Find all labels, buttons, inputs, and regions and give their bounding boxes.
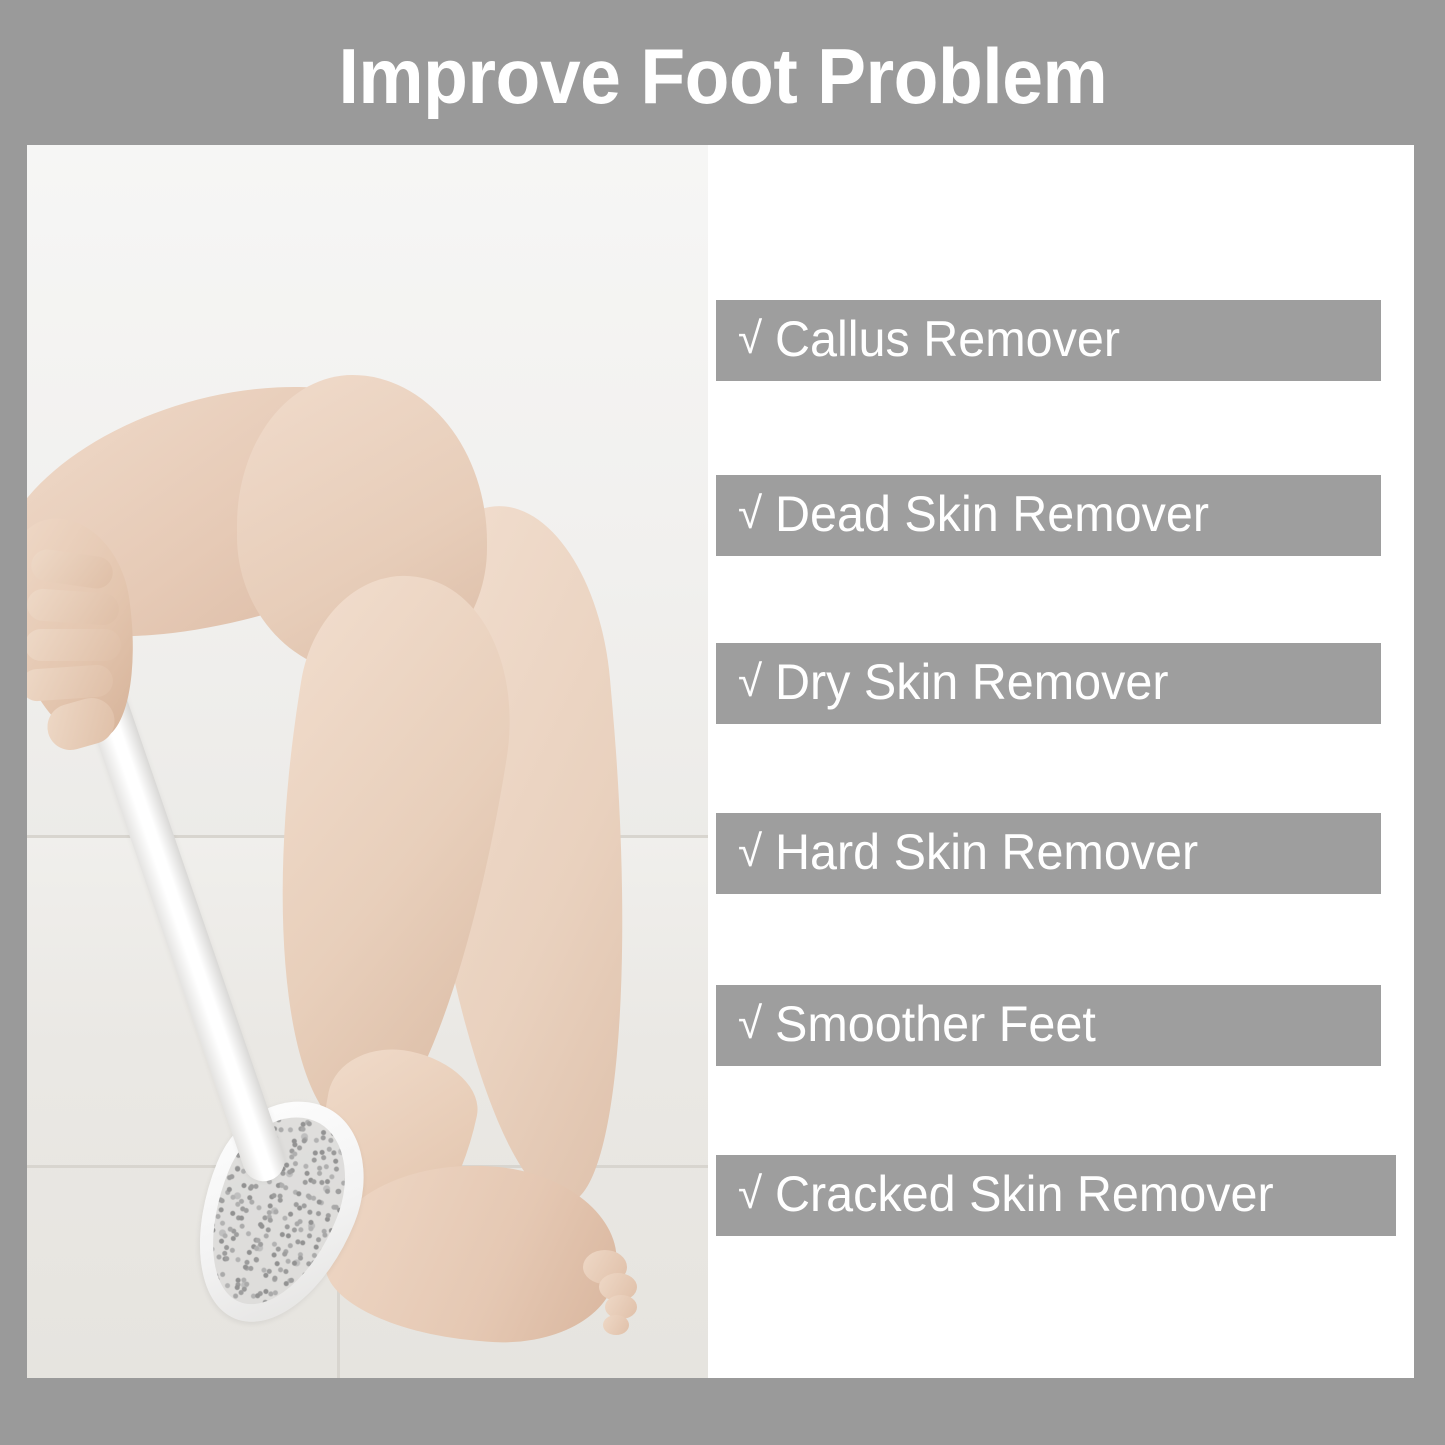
title-bar: Improve Foot Problem <box>0 0 1445 145</box>
feature-list: √ Callus Remover √ Dead Skin Remover √ D… <box>708 145 1414 1378</box>
feature-item-callus-remover: √ Callus Remover <box>716 300 1381 381</box>
feature-label: Callus Remover <box>775 314 1120 364</box>
feature-item-dry-skin-remover: √ Dry Skin Remover <box>716 643 1381 724</box>
toe <box>603 1315 629 1335</box>
check-icon: √ <box>738 830 762 874</box>
feature-item-smoother-feet: √ Smoother Feet <box>716 985 1381 1066</box>
feature-item-dead-skin-remover: √ Dead Skin Remover <box>716 475 1381 556</box>
product-photo <box>27 145 708 1378</box>
check-icon: √ <box>738 1172 762 1216</box>
check-icon: √ <box>738 492 762 536</box>
content-panel: √ Callus Remover √ Dead Skin Remover √ D… <box>27 145 1414 1378</box>
feature-item-cracked-skin-remover: √ Cracked Skin Remover <box>716 1155 1396 1236</box>
feature-label: Smoother Feet <box>775 999 1096 1049</box>
feature-label: Dead Skin Remover <box>775 489 1209 539</box>
product-infographic: Improve Foot Problem <box>0 0 1445 1445</box>
check-icon: √ <box>738 1002 762 1046</box>
check-icon: √ <box>738 317 762 361</box>
finger <box>27 588 120 626</box>
feature-item-hard-skin-remover: √ Hard Skin Remover <box>716 813 1381 894</box>
feature-label: Hard Skin Remover <box>775 827 1198 877</box>
feature-label: Dry Skin Remover <box>775 657 1168 707</box>
finger <box>27 629 121 661</box>
page-title: Improve Foot Problem <box>338 37 1107 115</box>
feature-label: Cracked Skin Remover <box>775 1169 1274 1219</box>
check-icon: √ <box>738 660 762 704</box>
finger <box>27 664 114 702</box>
